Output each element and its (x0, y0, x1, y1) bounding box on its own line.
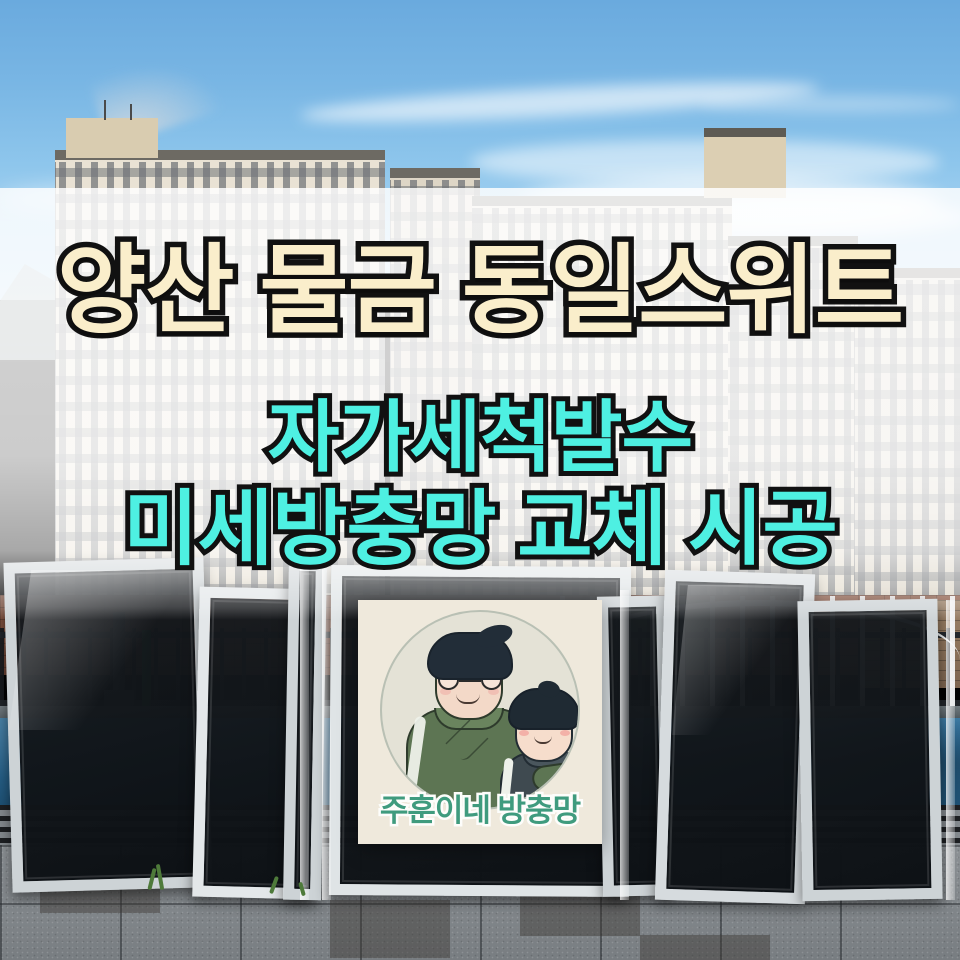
son-hair-icon (508, 688, 580, 730)
roof (390, 168, 480, 178)
rooftop-structure (66, 118, 158, 158)
cloud (700, 96, 960, 112)
son-cheek-icon (519, 730, 529, 736)
antenna (104, 100, 106, 120)
frame-stile (946, 600, 955, 900)
logo-brand-text: 주훈이네 방충망 (358, 785, 602, 830)
headline-title: 양산 물금 동일스위트 (0, 240, 960, 343)
son-cheek-icon (560, 730, 570, 736)
pavement-tile (640, 935, 770, 960)
headline-block: 양산 물금 동일스위트 (0, 240, 960, 343)
subheadline-block: 자가세척발수 미세방충망 교체 시공 (0, 392, 960, 578)
window-frame (797, 599, 942, 901)
thumbnail-canvas: 양산 물금 동일스위트 자가세척발수 미세방충망 교체 시공 (0, 0, 960, 960)
frame-stile (620, 590, 629, 900)
subheadline-line-1: 자가세척발수 (0, 392, 960, 482)
subheadline-line-2: 미세방충망 교체 시공 (0, 482, 960, 577)
logo-card: 주훈이네 방충망 (358, 600, 602, 844)
pavement-tile (330, 900, 450, 958)
logo-illustration (380, 610, 580, 810)
antenna (130, 104, 132, 120)
father-hair-icon (427, 632, 513, 680)
